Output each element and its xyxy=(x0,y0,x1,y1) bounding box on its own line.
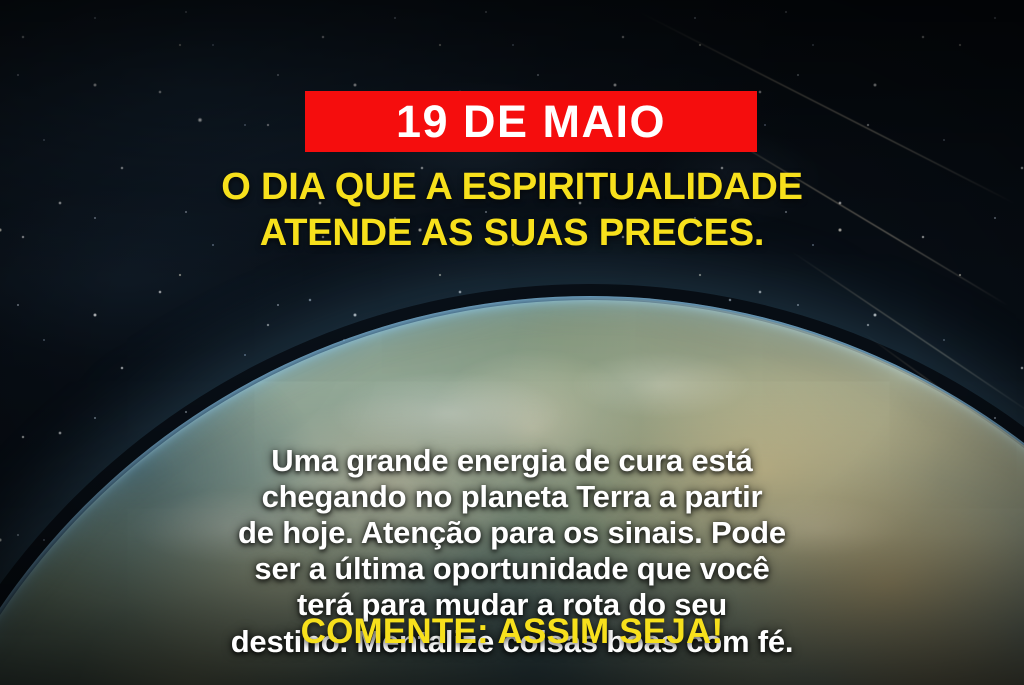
date-banner-label: 19 DE MAIO xyxy=(396,99,666,144)
headline-line-2: ATENDE AS SUAS PRECES. xyxy=(50,210,974,256)
call-to-action-label: COMENTE: ASSIM SEJA! xyxy=(301,612,724,651)
headline: O DIA QUE A ESPIRITUALIDADE ATENDE AS SU… xyxy=(0,164,1024,257)
headline-line-1: O DIA QUE A ESPIRITUALIDADE xyxy=(50,164,974,210)
body-line-4: ser a última oportunidade que você xyxy=(28,551,996,587)
date-banner: 19 DE MAIO xyxy=(305,91,757,152)
body-line-3: de hoje. Atenção para os sinais. Pode xyxy=(28,515,996,551)
body-line-1: Uma grande energia de cura está xyxy=(28,443,996,479)
content-layer: 19 DE MAIO O DIA QUE A ESPIRITUALIDADE A… xyxy=(0,0,1024,685)
call-to-action: COMENTE: ASSIM SEJA! xyxy=(0,613,1024,652)
body-line-2: chegando no planeta Terra a partir xyxy=(28,479,996,515)
poster-canvas: 19 DE MAIO O DIA QUE A ESPIRITUALIDADE A… xyxy=(0,0,1024,685)
